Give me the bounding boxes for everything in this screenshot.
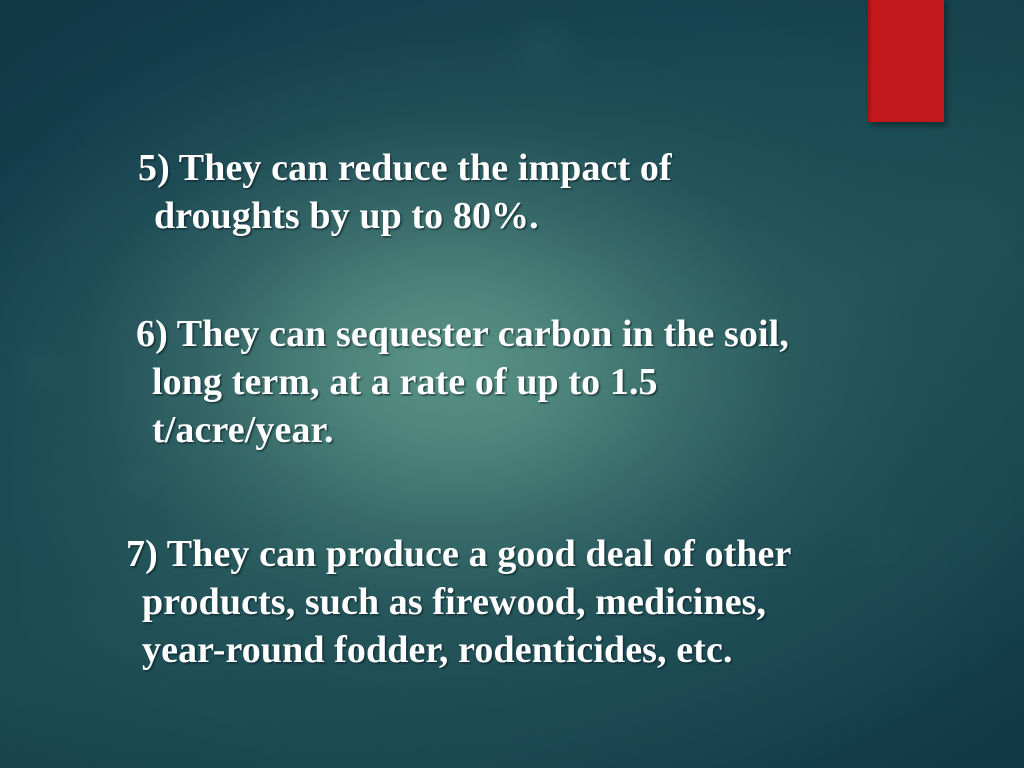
slide-canvas: 5) They can reduce the impact of drought…: [0, 0, 1024, 768]
bullet-item-7: 7) They can produce a good deal of other…: [126, 530, 882, 674]
red-accent-rectangle: [868, 0, 944, 122]
bullet-item-5: 5) They can reduce the impact of drought…: [138, 144, 774, 240]
bullet-item-6: 6) They can sequester carbon in the soil…: [136, 310, 872, 454]
